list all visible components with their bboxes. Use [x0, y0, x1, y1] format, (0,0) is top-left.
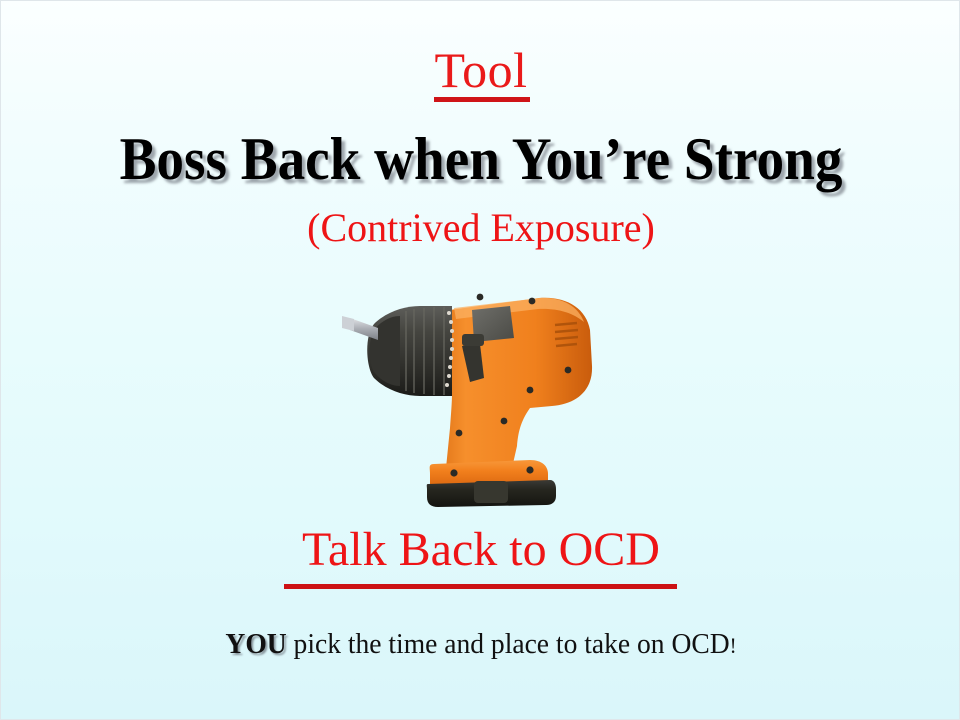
battery-screw-right	[526, 466, 533, 473]
footer-note-rest: pick the time and place to take on OCD	[287, 628, 730, 660]
battery-screw-left	[450, 469, 457, 476]
power-drill-illustration	[334, 278, 614, 508]
slide-kicker: Tool	[1, 45, 960, 95]
power-drill-image	[334, 278, 614, 508]
footer-note: YOU pick the time and place to take on O…	[25, 629, 937, 661]
slide: Tool Boss Back when You’re Strong (Contr…	[0, 0, 960, 720]
drill-bit-tip	[342, 316, 354, 331]
kicker-underline	[434, 97, 530, 102]
page-title: Boss Back when You’re Strong	[39, 128, 922, 191]
drill-bit	[350, 318, 378, 340]
slide-subtitle: (Contrived Exposure)	[1, 206, 960, 250]
footer-note-bang: !	[730, 633, 737, 658]
call-to-action-underline	[284, 584, 677, 589]
battery-release-tab	[474, 481, 508, 503]
footer-note-emphasis: YOU	[225, 628, 286, 660]
drill-direction-switch	[462, 334, 484, 346]
call-to-action-heading: Talk Back to OCD	[1, 525, 960, 575]
